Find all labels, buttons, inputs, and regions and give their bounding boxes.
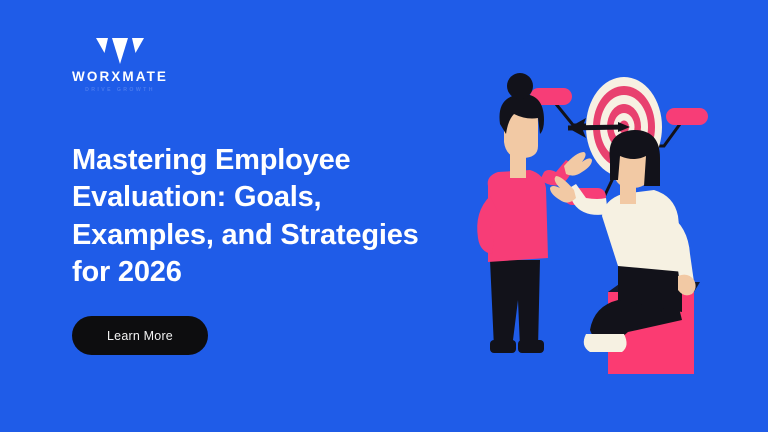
- logo-tagline: DRIVE GROWTH: [72, 88, 168, 93]
- brand-logo[interactable]: WORXMATE DRIVE GROWTH: [72, 36, 168, 93]
- page-title: Mastering Employee Evaluation: Goals, Ex…: [72, 142, 462, 292]
- standing-woman-figure: [477, 73, 592, 353]
- logo-wordmark: WORXMATE: [72, 70, 168, 84]
- worxmate-w-mark-icon: [94, 36, 146, 66]
- learn-more-button[interactable]: Learn More: [72, 316, 208, 355]
- goal-setting-illustration: [468, 0, 768, 432]
- callout-tag-right: [666, 108, 708, 125]
- hero-banner: WORXMATE DRIVE GROWTH Mastering Employee…: [0, 0, 768, 432]
